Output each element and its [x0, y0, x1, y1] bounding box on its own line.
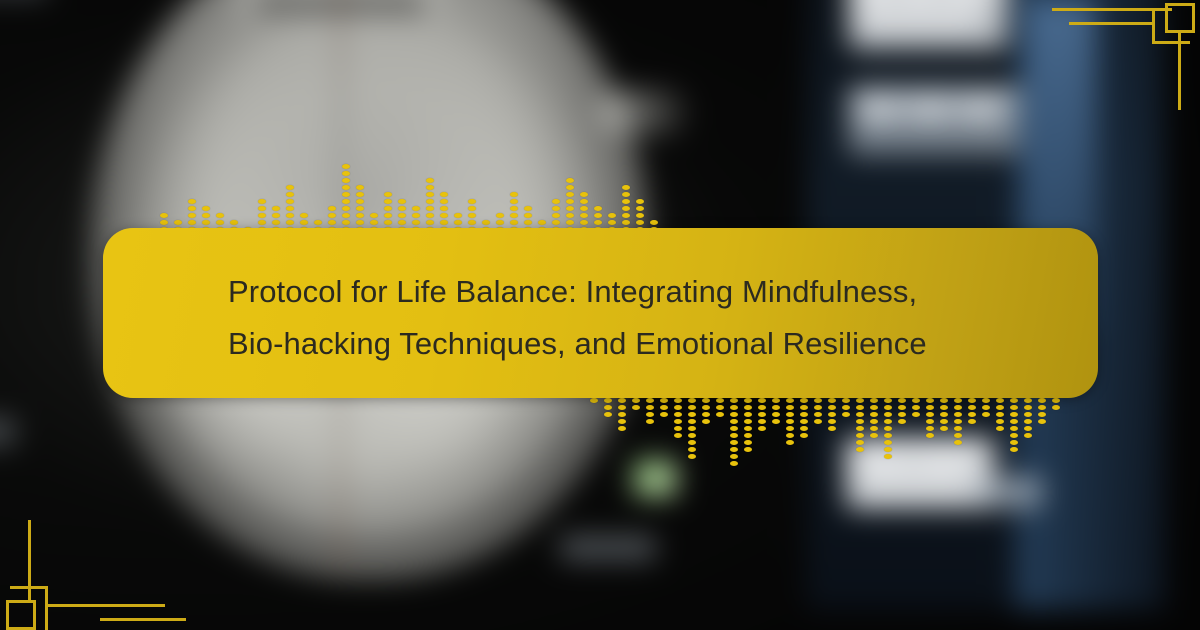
waveform-bar [370, 155, 378, 232]
waveform-dot [982, 412, 990, 417]
waveform-dot [1052, 398, 1060, 403]
waveform-dot [674, 426, 682, 431]
waveform-bar [566, 155, 574, 232]
waveform-dot [814, 412, 822, 417]
waveform-dot [314, 220, 322, 225]
waveform-bar [440, 155, 448, 232]
waveform-dot [552, 213, 560, 218]
waveform-dot [730, 454, 738, 459]
waveform-dot [926, 405, 934, 410]
waveform-bar [744, 398, 752, 475]
waveform-dot [646, 405, 654, 410]
waveform-dot [898, 412, 906, 417]
waveform-dot [1010, 426, 1018, 431]
waveform-dot [370, 220, 378, 225]
waveform-bar [842, 398, 850, 475]
waveform-dot [608, 220, 616, 225]
waveform-dot [510, 213, 518, 218]
waveform-dot [468, 206, 476, 211]
waveform-dot [342, 178, 350, 183]
waveform-bar [674, 398, 682, 475]
waveform-bar [510, 155, 518, 232]
waveform-dot [716, 405, 724, 410]
waveform-dot [426, 192, 434, 197]
waveform-bar [730, 398, 738, 475]
waveform-dot [856, 440, 864, 445]
waveform-dot [926, 412, 934, 417]
waveform-dot [594, 213, 602, 218]
waveform-dot [730, 419, 738, 424]
waveform-dot [702, 398, 710, 403]
waveform-bar [594, 155, 602, 232]
waveform-dot [356, 185, 364, 190]
waveform-dot [552, 199, 560, 204]
waveform-dot [412, 220, 420, 225]
bracket-square [6, 600, 36, 630]
waveform-dot [636, 199, 644, 204]
waveform-dot [566, 192, 574, 197]
waveform-bar [828, 398, 836, 475]
waveform-bar [786, 398, 794, 475]
waveform-bar [524, 155, 532, 232]
waveform-bar [272, 155, 280, 232]
waveform-dot [674, 405, 682, 410]
waveform-dot [940, 412, 948, 417]
waveform-dot [426, 213, 434, 218]
waveform-dot [968, 405, 976, 410]
waveform-dot [870, 419, 878, 424]
waveform-dot [926, 419, 934, 424]
waveform-dot [968, 412, 976, 417]
ui-chip [858, 0, 892, 2]
waveform-dot [216, 220, 224, 225]
waveform-dot [758, 398, 766, 403]
waveform-dot [660, 398, 668, 403]
waveform-bar [314, 155, 322, 232]
waveform-dot [1024, 412, 1032, 417]
waveform-dot [650, 220, 658, 225]
waveform-dot [856, 405, 864, 410]
waveform-dot [1010, 412, 1018, 417]
waveform-dot [996, 412, 1004, 417]
waveform-dot [482, 220, 490, 225]
waveform-bar [618, 398, 626, 475]
waveform-dot [688, 454, 696, 459]
waveform-dot [618, 398, 626, 403]
waveform-dot [1024, 426, 1032, 431]
waveform-dot [594, 220, 602, 225]
waveform-dot [1052, 405, 1060, 410]
waveform-bar [772, 398, 780, 475]
waveform-dot [828, 419, 836, 424]
waveform-dot [258, 206, 266, 211]
waveform-dot [356, 199, 364, 204]
waveform-dot [468, 199, 476, 204]
waveform-dot [772, 412, 780, 417]
bracket-line [1152, 8, 1155, 44]
waveform-dot [636, 213, 644, 218]
waveform-dot [202, 206, 210, 211]
waveform-dot [688, 426, 696, 431]
waveform-dot [594, 206, 602, 211]
ui-chip [946, 0, 980, 2]
waveform-dot [342, 164, 350, 169]
waveform-dot [286, 185, 294, 190]
waveform-dot [982, 405, 990, 410]
waveform-dot [996, 419, 1004, 424]
waveform-bar [800, 398, 808, 475]
waveform-dot [744, 440, 752, 445]
waveform-bar [996, 398, 1004, 475]
waveform-dot [884, 454, 892, 459]
waveform-bar [884, 398, 892, 475]
waveform-dot [622, 206, 630, 211]
waveform-dot [636, 206, 644, 211]
waveform-dot [328, 213, 336, 218]
waveform-dot [758, 405, 766, 410]
waveform-bar [286, 155, 294, 232]
waveform-dot [258, 199, 266, 204]
waveform-bar [898, 398, 906, 475]
waveform-dot [384, 213, 392, 218]
waveform-dot [800, 398, 808, 403]
waveform-dot [1010, 398, 1018, 403]
waveform-dot [342, 199, 350, 204]
waveform-dot [716, 398, 724, 403]
waveform-bar [356, 155, 364, 232]
waveform-dot [160, 220, 168, 225]
ct-scan-temporal-bone [600, 90, 690, 134]
waveform-dot [566, 206, 574, 211]
waveform-dot [230, 220, 238, 225]
waveform-dot [1024, 398, 1032, 403]
waveform-dot [426, 220, 434, 225]
waveform-dot [954, 433, 962, 438]
waveform-dot [426, 206, 434, 211]
waveform-dot [800, 426, 808, 431]
waveform-dot [1038, 419, 1046, 424]
waveform-dot [884, 440, 892, 445]
waveform-bar [202, 155, 210, 232]
waveform-dot [370, 213, 378, 218]
waveform-dot [286, 192, 294, 197]
waveform-dot [660, 412, 668, 417]
waveform-dot [800, 412, 808, 417]
waveform-dot [786, 440, 794, 445]
waveform-dot [646, 419, 654, 424]
waveform-dot [398, 206, 406, 211]
waveform-dot [618, 426, 626, 431]
waveform-dot [688, 412, 696, 417]
waveform-dot [884, 426, 892, 431]
waveform-dot [622, 192, 630, 197]
ui-chip [910, 100, 950, 120]
page-title: Protocol for Life Balance: Integrating M… [228, 266, 1018, 370]
waveform-dot [328, 220, 336, 225]
waveform-dot [622, 213, 630, 218]
ui-card-bottom-right [980, 478, 1042, 510]
waveform-dot [566, 178, 574, 183]
waveform-dot [842, 412, 850, 417]
waveform-bar [482, 155, 490, 232]
waveform-dot [744, 419, 752, 424]
audio-waveform-upper [160, 155, 612, 232]
waveform-dot [272, 213, 280, 218]
waveform-dot [856, 412, 864, 417]
waveform-bar [968, 398, 976, 475]
waveform-dot [954, 419, 962, 424]
waveform-dot [580, 206, 588, 211]
waveform-dot [842, 405, 850, 410]
waveform-dot [524, 213, 532, 218]
waveform-dot [398, 213, 406, 218]
waveform-bar [608, 155, 616, 232]
waveform-dot [954, 412, 962, 417]
waveform-dot [510, 199, 518, 204]
waveform-dot [786, 412, 794, 417]
waveform-dot [412, 206, 420, 211]
waveform-dot [926, 398, 934, 403]
waveform-dot [772, 398, 780, 403]
waveform-dot [674, 412, 682, 417]
waveform-dot [356, 192, 364, 197]
ui-chip [855, 480, 973, 500]
waveform-dot [524, 206, 532, 211]
waveform-dot [702, 412, 710, 417]
waveform-dot [1010, 405, 1018, 410]
waveform-dot [384, 206, 392, 211]
waveform-dot [632, 398, 640, 403]
waveform-bar [604, 398, 612, 475]
waveform-dot [398, 199, 406, 204]
waveform-dot [674, 433, 682, 438]
waveform-bar [912, 398, 920, 475]
waveform-dot [926, 433, 934, 438]
waveform-dot [440, 206, 448, 211]
waveform-dot [856, 426, 864, 431]
waveform-bar [814, 398, 822, 475]
waveform-dot [468, 213, 476, 218]
waveform-dot [870, 398, 878, 403]
waveform-dot [716, 412, 724, 417]
waveform-dot [814, 405, 822, 410]
waveform-dot [996, 405, 1004, 410]
waveform-dot [188, 213, 196, 218]
waveform-bar [926, 398, 934, 475]
waveform-dot [954, 426, 962, 431]
waveform-dot [856, 433, 864, 438]
waveform-dot [884, 405, 892, 410]
waveform-dot [828, 426, 836, 431]
waveform-dot [258, 213, 266, 218]
waveform-dot [618, 419, 626, 424]
waveform-dot [1038, 412, 1046, 417]
waveform-dot [342, 220, 350, 225]
title-line-1: Protocol for Life Balance: Integrating M… [228, 266, 1018, 318]
bracket-line [1178, 30, 1181, 110]
waveform-dot [398, 220, 406, 225]
waveform-dot [870, 433, 878, 438]
waveform-dot [188, 206, 196, 211]
waveform-dot [1010, 440, 1018, 445]
waveform-dot [496, 220, 504, 225]
waveform-bar [216, 155, 224, 232]
waveform-dot [828, 412, 836, 417]
waveform-dot [814, 398, 822, 403]
waveform-dot [884, 398, 892, 403]
waveform-dot [202, 213, 210, 218]
waveform-dot [510, 206, 518, 211]
waveform-dot [286, 199, 294, 204]
waveform-dot [300, 213, 308, 218]
waveform-dot [300, 220, 308, 225]
waveform-dot [730, 426, 738, 431]
waveform-dot [580, 213, 588, 218]
waveform-bar [188, 155, 196, 232]
ui-card-foot [560, 536, 656, 562]
waveform-dot [604, 405, 612, 410]
waveform-dot [286, 213, 294, 218]
waveform-bar [426, 155, 434, 232]
waveform-dot [618, 412, 626, 417]
waveform-dot [604, 398, 612, 403]
waveform-dot [842, 398, 850, 403]
waveform-bar [622, 155, 630, 232]
ui-card-middle [848, 86, 1020, 156]
waveform-bar [940, 398, 948, 475]
waveform-dot [674, 398, 682, 403]
bracket-line [100, 618, 186, 621]
waveform-dot [744, 405, 752, 410]
waveform-bar [174, 155, 182, 232]
bracket-line [1152, 41, 1190, 44]
waveform-dot [786, 398, 794, 403]
waveform-dot [996, 398, 1004, 403]
waveform-dot [912, 398, 920, 403]
waveform-dot [758, 412, 766, 417]
waveform-dot [454, 220, 462, 225]
waveform-dot [636, 220, 644, 225]
waveform-dot [968, 419, 976, 424]
waveform-bar [716, 398, 724, 475]
waveform-dot [342, 192, 350, 197]
waveform-dot [286, 206, 294, 211]
waveform-dot [202, 220, 210, 225]
waveform-bar [160, 155, 168, 232]
waveform-dot [160, 213, 168, 218]
bracket-line [1069, 22, 1155, 25]
waveform-dot [608, 213, 616, 218]
waveform-dot [898, 405, 906, 410]
waveform-dot [342, 185, 350, 190]
waveform-bar [1038, 398, 1046, 475]
waveform-dot [328, 206, 336, 211]
waveform-dot [730, 440, 738, 445]
waveform-dot [884, 433, 892, 438]
waveform-dot [702, 419, 710, 424]
waveform-bar [870, 398, 878, 475]
waveform-dot [786, 433, 794, 438]
waveform-dot [496, 213, 504, 218]
waveform-dot [772, 405, 780, 410]
waveform-dot [356, 206, 364, 211]
waveform-dot [786, 426, 794, 431]
waveform-dot [272, 206, 280, 211]
waveform-bar [342, 155, 350, 232]
waveform-dot [524, 220, 532, 225]
waveform-bar [856, 398, 864, 475]
waveform-bar [412, 155, 420, 232]
waveform-bar [384, 155, 392, 232]
waveform-dot [646, 412, 654, 417]
waveform-dot [342, 206, 350, 211]
waveform-dot [566, 220, 574, 225]
waveform-dot [870, 426, 878, 431]
waveform-dot [800, 419, 808, 424]
waveform-dot [622, 185, 630, 190]
waveform-dot [730, 461, 738, 466]
waveform-dot [1010, 433, 1018, 438]
waveform-dot [580, 220, 588, 225]
waveform-dot [996, 426, 1004, 431]
waveform-bar [646, 398, 654, 475]
waveform-dot [898, 419, 906, 424]
waveform-dot [688, 405, 696, 410]
audio-waveform-lower [590, 398, 1038, 475]
waveform-dot [1038, 398, 1046, 403]
waveform-dot [954, 398, 962, 403]
title-line-2: Bio-hacking Techniques, and Emotional Re… [228, 318, 1018, 370]
waveform-dot [188, 220, 196, 225]
ui-card-left [0, 418, 16, 448]
waveform-bar [758, 398, 766, 475]
waveform-dot [454, 213, 462, 218]
waveform-dot [1024, 405, 1032, 410]
waveform-dot [580, 199, 588, 204]
share-card-canvas: Protocol for Life Balance: Integrating M… [0, 0, 1200, 630]
bracket-line [45, 604, 165, 607]
waveform-dot [884, 412, 892, 417]
waveform-dot [216, 213, 224, 218]
waveform-bar [468, 155, 476, 232]
waveform-bar [660, 398, 668, 475]
waveform-bar [1024, 398, 1032, 475]
waveform-dot [258, 220, 266, 225]
waveform-dot [384, 199, 392, 204]
waveform-dot [468, 220, 476, 225]
waveform-dot [898, 398, 906, 403]
waveform-dot [912, 405, 920, 410]
title-banner: Protocol for Life Balance: Integrating M… [103, 228, 1098, 398]
waveform-bar [1010, 398, 1018, 475]
waveform-bar [650, 155, 658, 232]
waveform-dot [688, 447, 696, 452]
waveform-dot [286, 220, 294, 225]
waveform-bar [230, 155, 238, 232]
waveform-dot [510, 192, 518, 197]
waveform-dot [912, 412, 920, 417]
waveform-bar [300, 155, 308, 232]
waveform-bar [398, 155, 406, 232]
waveform-dot [940, 426, 948, 431]
waveform-dot [660, 405, 668, 410]
waveform-bar [982, 398, 990, 475]
waveform-dot [870, 405, 878, 410]
waveform-dot [730, 412, 738, 417]
waveform-dot [884, 419, 892, 424]
waveform-dot [954, 440, 962, 445]
waveform-dot [384, 220, 392, 225]
